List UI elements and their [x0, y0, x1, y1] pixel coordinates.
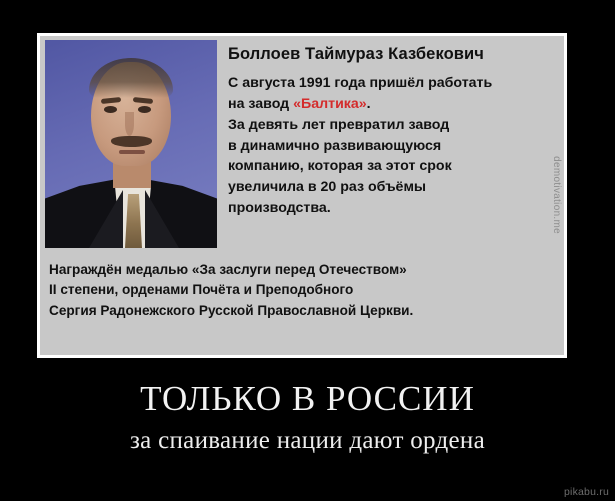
bio-line: За девять лет превратил завод — [228, 115, 556, 136]
bio-line: производства. — [228, 198, 556, 219]
nose-shape — [125, 112, 134, 136]
mouth-shape — [119, 150, 145, 154]
bio-line: компанию, которая за этот срок — [228, 156, 556, 177]
bio-line-text: За девять лет превратил завод — [228, 117, 449, 133]
vertical-watermark: demotivation.me — [551, 156, 562, 234]
brand-name-baltika: «Балтика» — [293, 96, 367, 112]
awards-block: Награждён медалью «За заслуги перед Отеч… — [49, 260, 556, 321]
eye-left-shape — [104, 106, 117, 113]
bio-line: в динамично развивающуюся — [228, 136, 556, 157]
caption-sub-text: за спаивание нации дают ордена — [0, 428, 615, 453]
caption-main-text: ТОЛЬКО В РОССИИ — [0, 381, 615, 416]
demotivational-poster: Боллоев Таймураз Казбекович С августа 19… — [0, 0, 615, 501]
bio-line: увеличила в 20 раз объёмы — [228, 177, 556, 198]
eye-right-shape — [138, 106, 151, 113]
bio-line-text: производства. — [228, 200, 331, 216]
award-line: Награждён медалью «За заслуги перед Отеч… — [49, 260, 556, 280]
person-name: Боллоев Таймураз Казбекович — [228, 45, 556, 64]
portrait-photo — [45, 40, 217, 248]
bio-line-text: С августа 1991 года пришёл работать — [228, 75, 492, 91]
biography-block: Боллоев Таймураз Казбекович С августа 19… — [228, 41, 556, 219]
award-line: Сергия Радонежского Русской Православной… — [49, 301, 556, 321]
bio-line-text: в динамично развивающуюся — [228, 138, 441, 154]
award-line: II степени, орденами Почёта и Преподобно… — [49, 280, 556, 300]
bio-line-suffix: . — [367, 96, 371, 112]
bio-line: С августа 1991 года пришёл работать — [228, 73, 556, 94]
info-panel: Боллоев Таймураз Казбекович С августа 19… — [37, 33, 567, 358]
bio-line-text: компанию, которая за этот срок — [228, 158, 452, 174]
source-watermark: pikabu.ru — [564, 486, 609, 498]
bio-line-text: увеличила в 20 раз объёмы — [228, 179, 426, 195]
bio-line-text: на завод — [228, 96, 293, 112]
bio-line: на завод «Балтика». — [228, 94, 556, 115]
mustache-shape — [111, 136, 152, 147]
